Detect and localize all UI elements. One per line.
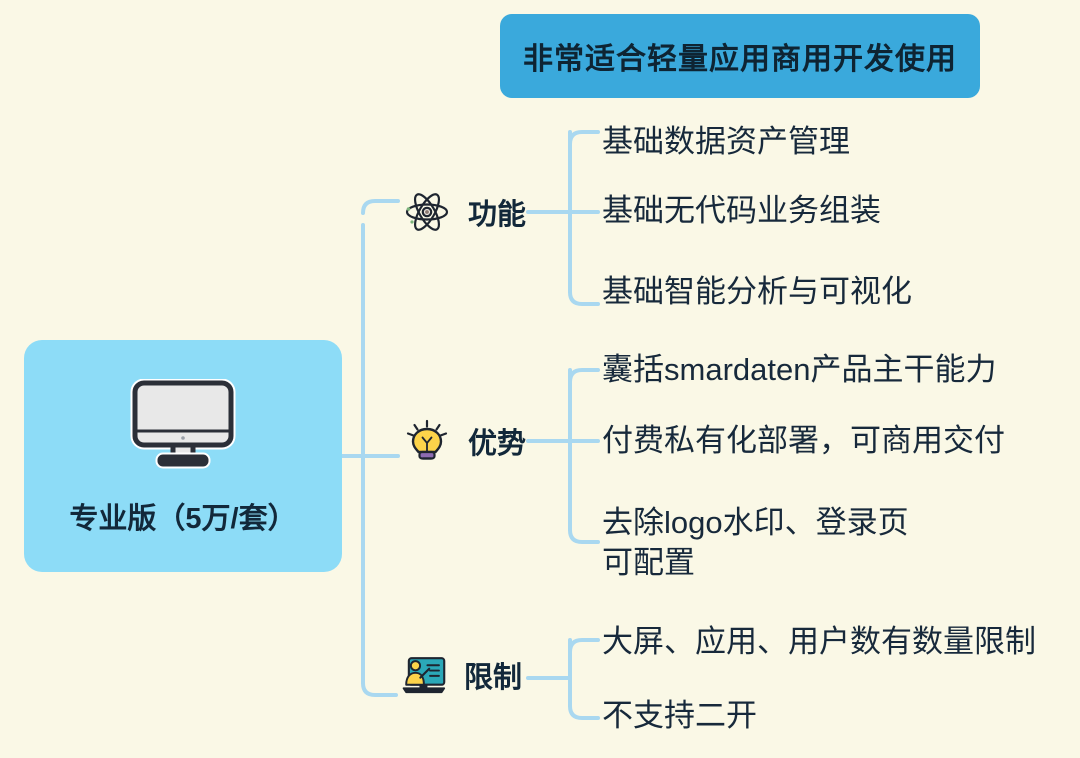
branch-0-child-2-link (570, 292, 598, 304)
branch-gongneng[interactable]: 功能 (404, 189, 526, 235)
leaf-item[interactable]: 基础无代码业务组装 (602, 191, 881, 231)
trunk-to-branch-2 (363, 683, 396, 695)
root-node-label: 专业版（5万/套） (69, 495, 296, 537)
leaf-item[interactable]: 付费私有化部署，可商用交付 (602, 421, 1005, 461)
branch-0-child-0-link (570, 132, 598, 144)
leaf-item[interactable]: 去除logo水印、登录页 可配置 (602, 503, 909, 582)
leaf-item[interactable]: 基础智能分析与可视化 (602, 272, 912, 312)
leaf-item[interactable]: 囊括smardaten产品主干能力 (602, 350, 996, 390)
mindmap-canvas: 非常适合轻量应用商用开发使用 (0, 0, 1080, 758)
branch-2-child-1-link (570, 706, 598, 718)
leaf-item[interactable]: 不支持二开 (602, 696, 757, 736)
trunk-to-branch-0 (363, 201, 398, 213)
branch-label: 优势 (468, 420, 526, 462)
branch-xianzhi[interactable]: 限制 (400, 652, 522, 698)
presentation-teacher-icon (400, 652, 446, 698)
desktop-monitor-icon (129, 379, 237, 471)
atom-icon (404, 189, 450, 235)
root-node[interactable]: 专业版（5万/套） (24, 340, 342, 572)
branch-1-child-0-link (570, 370, 598, 382)
leaf-item[interactable]: 大屏、应用、用户数有数量限制 (602, 622, 1036, 662)
branch-label: 限制 (464, 654, 522, 696)
branch-1-child-2-link (570, 530, 598, 542)
leaf-item[interactable]: 基础数据资产管理 (602, 122, 850, 162)
branch-youshi[interactable]: 优势 (404, 418, 526, 464)
branch-label: 功能 (468, 191, 526, 233)
lightbulb-icon (404, 418, 450, 464)
branch-2-child-0-link (570, 640, 598, 652)
